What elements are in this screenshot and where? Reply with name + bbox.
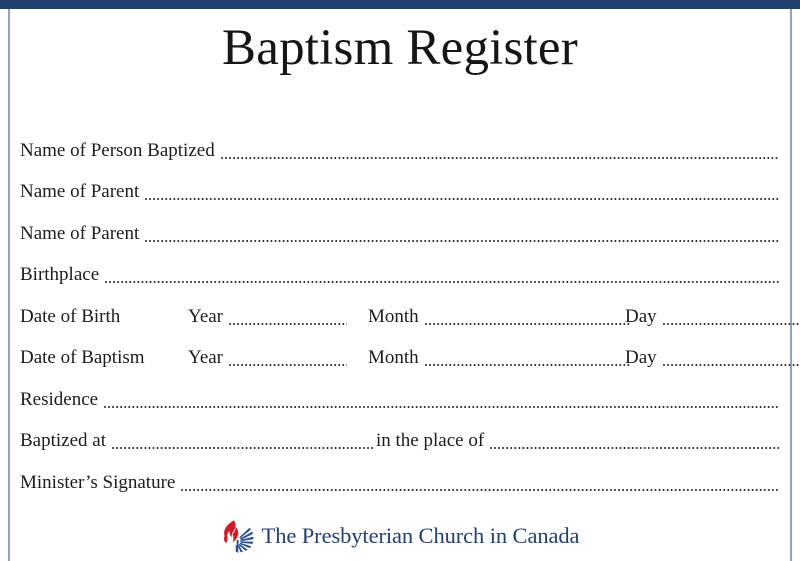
field-label: Name of Person Baptized [20, 139, 215, 162]
field-row-date-of-baptism: Date of Baptism Year Month Day [0, 328, 800, 370]
field-label: Birthplace [20, 263, 99, 286]
write-in-line[interactable] [104, 392, 779, 411]
field-label: Date of Baptism [20, 346, 188, 369]
date-of-baptism-year-group: Year [188, 346, 349, 369]
field-row-name-of-parent-2: Name of Parent [0, 203, 800, 245]
field-label: Residence [20, 388, 98, 411]
sub-label-year: Year [188, 305, 223, 328]
field-label: Name of Parent [20, 222, 139, 245]
page-title: Baptism Register [0, 17, 800, 79]
date-of-birth-month-group: Month [368, 305, 633, 328]
write-in-line-baptized-at[interactable] [112, 433, 374, 452]
write-in-line[interactable] [221, 143, 779, 162]
top-accent-bar [0, 0, 800, 9]
field-label: Minister’s Signature [20, 471, 175, 494]
field-row-birthplace: Birthplace [0, 245, 800, 287]
field-label: Date of Birth [20, 305, 188, 328]
register-form: Name of Person Baptized Name of Parent N… [0, 120, 800, 494]
sub-label-day: Day [625, 305, 657, 328]
date-of-baptism-day-group: Day [625, 346, 800, 369]
write-in-line-month[interactable] [425, 309, 631, 328]
write-in-line[interactable] [145, 184, 779, 203]
sub-label-day: Day [625, 346, 657, 369]
write-in-line-month[interactable] [425, 350, 631, 369]
write-in-line-day[interactable] [663, 350, 800, 369]
sub-label-month: Month [368, 305, 419, 328]
sub-label-month: Month [368, 346, 419, 369]
sub-label-year: Year [188, 346, 223, 369]
write-in-line-year[interactable] [229, 350, 347, 369]
write-in-line-day[interactable] [663, 309, 800, 328]
field-row-residence: Residence [0, 369, 800, 411]
baptism-register-page: Baptism Register Name of Person Baptized… [0, 0, 800, 561]
field-row-ministers-signature: Minister’s Signature [0, 452, 800, 494]
field-label-in-the-place-of: in the place of [376, 429, 484, 452]
organization-name: The Presbyterian Church in Canada [262, 522, 580, 550]
date-of-baptism-month-group: Month [368, 346, 633, 369]
write-in-line-place-of[interactable] [490, 433, 779, 452]
write-in-line[interactable] [105, 267, 779, 286]
field-row-baptized-at: Baptized at in the place of [0, 411, 800, 453]
footer-branding: The Presbyterian Church in Canada [0, 519, 800, 553]
write-in-line-year[interactable] [229, 309, 347, 328]
date-of-birth-year-group: Year [188, 305, 349, 328]
field-row-name-of-person-baptized: Name of Person Baptized [0, 120, 800, 162]
write-in-line[interactable] [181, 475, 779, 494]
field-row-name-of-parent-1: Name of Parent [0, 162, 800, 204]
field-label: Name of Parent [20, 180, 139, 203]
field-row-date-of-birth: Date of Birth Year Month Day [0, 286, 800, 328]
presbyterian-church-flame-and-bush-logo-icon [221, 519, 255, 553]
write-in-line[interactable] [145, 226, 779, 245]
date-of-birth-day-group: Day [625, 305, 800, 328]
field-label: Baptized at [20, 429, 106, 452]
